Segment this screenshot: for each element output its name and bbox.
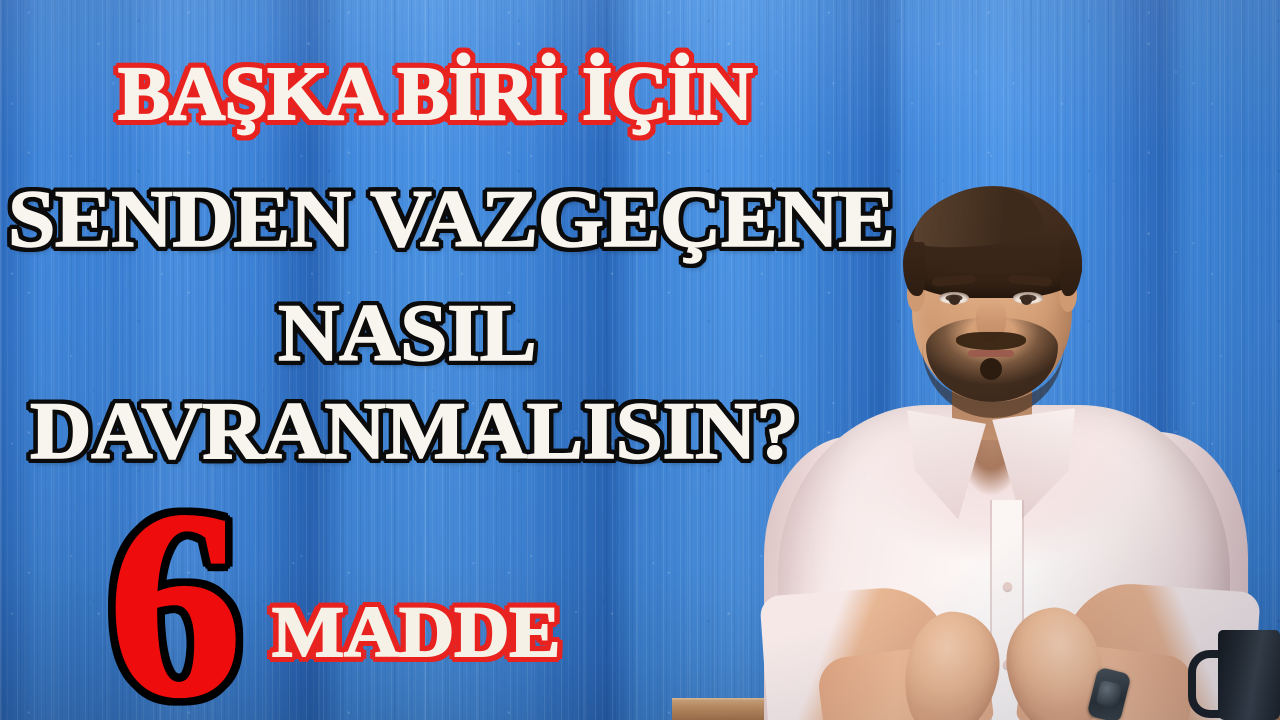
- presenter-hair-temple-right: [1060, 240, 1082, 296]
- item-count-label: MADDE: [272, 596, 560, 668]
- headline-line-1: BAŞKA BİRİ İÇİN: [118, 56, 752, 132]
- presenter-hair-temple-left: [903, 242, 925, 296]
- presenter-pupil-right: [1021, 295, 1032, 305]
- headline-line-3: NASIL: [278, 292, 536, 374]
- video-thumbnail: BAŞKA BİRİ İÇİN SENDEN VAZGEÇENE NASIL D…: [0, 0, 1280, 720]
- presenter-moustache: [956, 332, 1026, 350]
- presenter-pupil-left: [949, 295, 960, 305]
- presenter-mouth: [968, 350, 1014, 357]
- item-count-number: 6: [108, 470, 242, 720]
- shirt-button-upper: [1003, 582, 1012, 591]
- headline-line-2: SENDEN VAZGEÇENE: [8, 178, 895, 260]
- presenter-goatee: [980, 358, 1002, 380]
- coffee-mug: [1218, 630, 1280, 720]
